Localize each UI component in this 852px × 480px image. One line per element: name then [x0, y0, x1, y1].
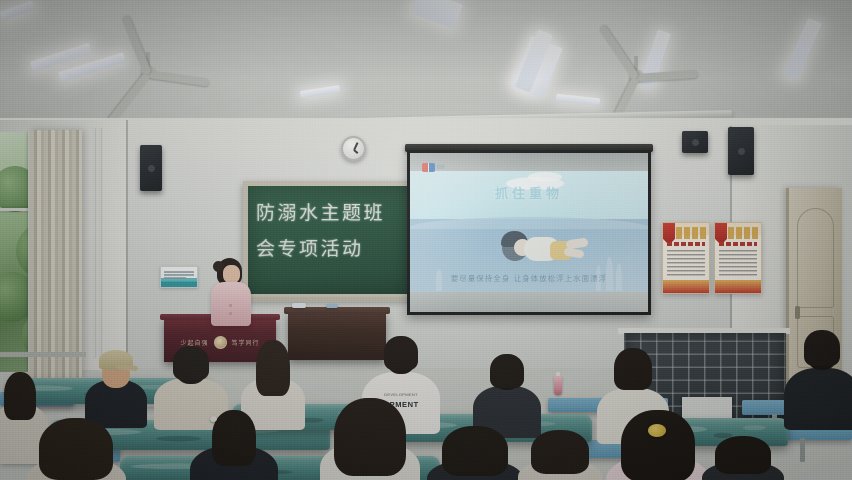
- yellow-hair-clip-icon: [648, 424, 666, 437]
- blackboard-chalk-tray: [240, 297, 422, 302]
- projector-screen: IM 抓住重物 要尽量保持全身 让身体放松浮上水面漂浮: [407, 150, 651, 315]
- wall-clock: [341, 136, 366, 161]
- logo-mark-icon: [422, 163, 435, 172]
- desk-item-book: [326, 304, 338, 308]
- speaker-right-wall-1: [682, 131, 708, 153]
- student-front-far-right: [704, 436, 782, 480]
- logo-text: IM: [437, 165, 445, 171]
- presenter: [210, 258, 252, 326]
- blackboard-line-2: 会专项活动: [256, 234, 408, 264]
- student-grey-hoodie: [474, 352, 540, 432]
- student-front-left: [28, 418, 124, 480]
- student-front-right: [520, 430, 600, 480]
- slide-illustration-child: [502, 229, 588, 271]
- hairpin-icon: [210, 416, 217, 422]
- shirt-text-small: DEVELOPMENT: [384, 392, 418, 397]
- wall-poster-right: [714, 222, 762, 294]
- student-front-center: [430, 426, 520, 480]
- student-cap-beige: [86, 348, 146, 418]
- window-sill: [0, 352, 86, 357]
- classroom-photo: 防溺水主题班 会专项活动 IM 抓住重物: [0, 0, 852, 480]
- speaker-right-wall-2: [728, 127, 754, 175]
- blackboard: 防溺水主题班 会专项活动: [243, 181, 419, 299]
- wall-corner-left: [126, 120, 128, 372]
- slide-logo: IM: [422, 163, 445, 172]
- blackboard-line-1: 防溺水主题班: [256, 198, 408, 228]
- student-hairpin-black: [192, 408, 276, 480]
- ceiling: [0, 0, 852, 132]
- wall-conduit-2: [98, 128, 101, 358]
- wall-conduit-1: [92, 128, 95, 358]
- wall-notice-sign: [160, 266, 198, 288]
- desk-item-paper: [292, 303, 306, 308]
- student-hairclip-yellow: [610, 410, 706, 480]
- door-handle-icon[interactable]: [795, 306, 800, 319]
- speaker-left-wall: [140, 145, 162, 191]
- student-long-hair-front: [322, 398, 418, 480]
- water-bottle[interactable]: [554, 375, 562, 395]
- window-curtain[interactable]: [30, 130, 82, 380]
- slide-title: 抓住重物: [410, 183, 648, 202]
- desk-leg-2: [800, 438, 805, 462]
- student-right-dark-top: [786, 330, 852, 426]
- slide-subtitle: 要尽量保持全身 让身体放松浮上水面漂浮: [410, 273, 648, 284]
- wall-poster-left: [662, 222, 710, 294]
